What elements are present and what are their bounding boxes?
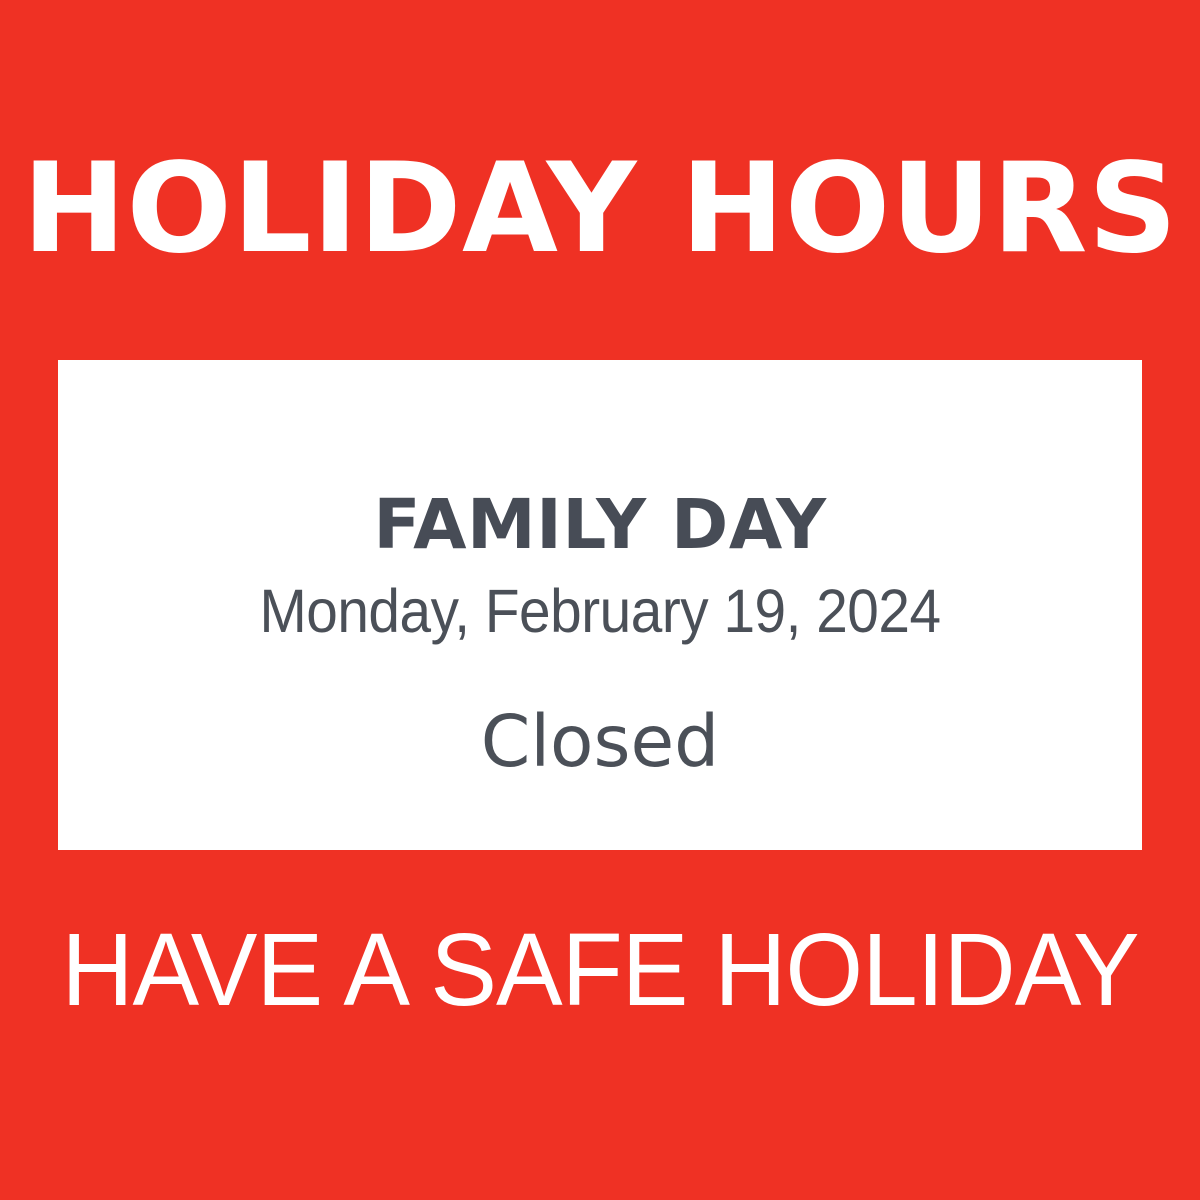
page-title: HOLIDAY HOURS bbox=[0, 143, 1200, 275]
holiday-hours-sign: HOLIDAY HOURS FAMILY DAY Monday, Februar… bbox=[0, 0, 1200, 1200]
holiday-date: Monday, February 19, 2024 bbox=[96, 575, 1104, 647]
holiday-status: Closed bbox=[58, 700, 1142, 784]
sign-footer-message: HAVE A SAFE HOLIDAY bbox=[18, 910, 1182, 1030]
holiday-detail-card: FAMILY DAY Monday, February 19, 2024 Clo… bbox=[58, 360, 1142, 850]
holiday-name: FAMILY DAY bbox=[58, 485, 1142, 565]
